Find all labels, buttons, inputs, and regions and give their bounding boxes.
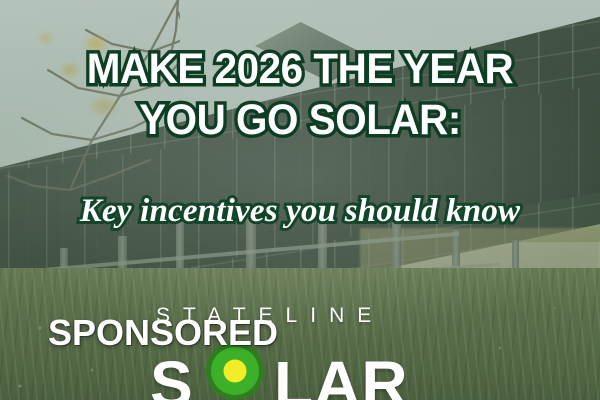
headline: MAKE 2026 THE YEAR YOU GO SOLAR:: [18, 44, 582, 146]
headline-line-1: MAKE 2026 THE YEAR: [18, 44, 582, 95]
subtitle: Key incentives you should know: [0, 192, 600, 230]
sun-center: [224, 360, 247, 383]
logo-letters-lar: LAR: [274, 352, 409, 400]
headline-line-2: YOU GO SOLAR:: [18, 95, 582, 146]
logo-letter-s: S: [150, 352, 194, 400]
sponsored-label: SPONSORED: [48, 312, 278, 354]
sponsored-solar-banner: MAKE 2026 THE YEAR YOU GO SOLAR: Key inc…: [0, 0, 600, 400]
